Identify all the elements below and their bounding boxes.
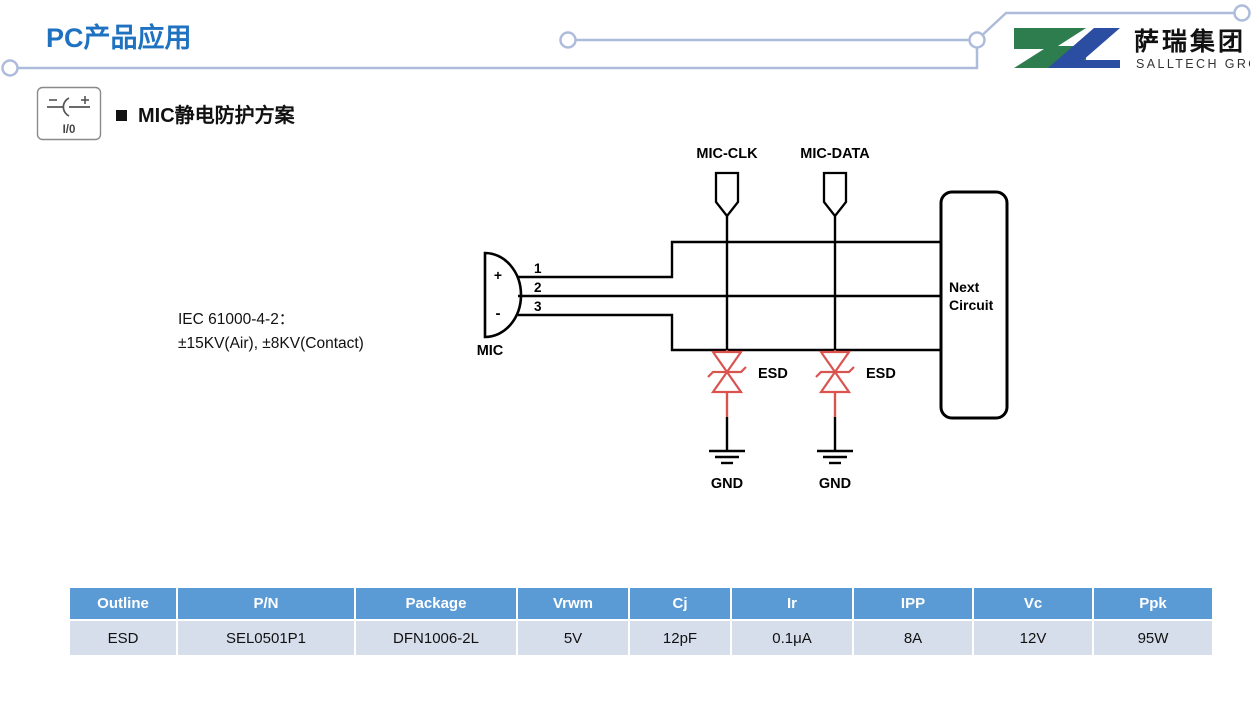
col-header-ipp: IPP — [854, 588, 972, 619]
col-header-ppk: Ppk — [1094, 588, 1212, 619]
next-circuit-block: Next Circuit — [941, 192, 1007, 418]
ground-symbol-1: GND — [709, 417, 745, 492]
col-header-package: Package — [356, 588, 516, 619]
cell-outline: ESD — [70, 621, 176, 655]
cell-vrwm: 5V — [518, 621, 628, 655]
net-mic-data: MIC-DATA — [800, 146, 870, 350]
cell-package: DFN1006-2L — [356, 621, 516, 655]
decor-node-mid — [561, 33, 576, 48]
mic-plus-label: + — [494, 267, 502, 283]
next-circuit-line1: Next — [949, 279, 980, 295]
iec-spec-line1: IEC 61000-4-2： — [178, 308, 364, 332]
cell-cj: 12pF — [630, 621, 730, 655]
iec-spec-text: IEC 61000-4-2： ±15KV(Air), ±8KV(Contact) — [178, 308, 364, 356]
net-mic-data-label: MIC-DATA — [800, 146, 870, 162]
logo-name-en: SALLTECH GROUP — [1136, 57, 1250, 71]
iec-spec-line2: ±15KV(Air), ±8KV(Contact) — [178, 332, 364, 356]
table-header-row: Outline P/N Package Vrwm Cj Ir IPP Vc Pp… — [70, 588, 1212, 619]
page-title: PC产品应用 — [46, 16, 192, 55]
esd-device-1: ESD — [708, 350, 788, 417]
net-mic-clk-label: MIC-CLK — [696, 146, 758, 162]
esd-device-2: ESD — [816, 350, 896, 417]
col-header-vc: Vc — [974, 588, 1092, 619]
mic-label: MIC — [477, 343, 504, 359]
esd-2-label: ESD — [866, 366, 896, 382]
net-mic-clk: MIC-CLK — [696, 146, 758, 350]
col-header-pn: P/N — [178, 588, 354, 619]
decor-node-junction — [970, 33, 985, 48]
io-badge-icon: I/0 — [36, 86, 102, 141]
mic-minus-label: - — [496, 305, 501, 322]
mic-clk-testpoint-icon — [716, 173, 738, 216]
table-row: ESD SEL0501P1 DFN1006-2L 5V 12pF 0.1μA 8… — [70, 621, 1212, 655]
mic-data-testpoint-icon — [824, 173, 846, 216]
cell-vc: 12V — [974, 621, 1092, 655]
cell-ipp: 8A — [854, 621, 972, 655]
cell-ppk: 95W — [1094, 621, 1212, 655]
esd-protection-schematic: + - MIC 1 2 3 MIC-CLK MIC-DATA ESD — [460, 140, 1030, 510]
ground-symbol-2: GND — [817, 417, 853, 492]
pin-2-label: 2 — [534, 280, 542, 295]
signal-wires — [518, 242, 945, 350]
next-circuit-line2: Circuit — [949, 297, 994, 313]
mic-connector-symbol: + - — [485, 253, 521, 337]
col-header-ir: Ir — [732, 588, 852, 619]
cell-ir: 0.1μA — [732, 621, 852, 655]
section-heading: MIC静电防护方案 — [116, 99, 295, 128]
col-header-outline: Outline — [70, 588, 176, 619]
parts-specification-table: Outline P/N Package Vrwm Cj Ir IPP Vc Pp… — [68, 586, 1214, 657]
col-header-vrwm: Vrwm — [518, 588, 628, 619]
logo-name-cn: 萨瑞集团 — [1134, 27, 1246, 56]
logo-mark — [1014, 28, 1120, 68]
cell-pn: SEL0501P1 — [178, 621, 354, 655]
decor-node-left — [3, 61, 18, 76]
io-badge-label: I/0 — [63, 124, 76, 136]
col-header-cj: Cj — [630, 588, 730, 619]
section-heading-label: MIC静电防护方案 — [138, 105, 295, 127]
gnd-1-label: GND — [711, 476, 743, 492]
pin-3-label: 3 — [534, 299, 542, 314]
brand-logo: 萨瑞集团 SALLTECH GROUP — [1010, 22, 1250, 74]
square-bullet-icon — [116, 110, 127, 121]
pin-1-label: 1 — [534, 261, 542, 276]
decor-node-right — [1235, 6, 1250, 21]
esd-1-label: ESD — [758, 366, 788, 382]
gnd-2-label: GND — [819, 476, 851, 492]
